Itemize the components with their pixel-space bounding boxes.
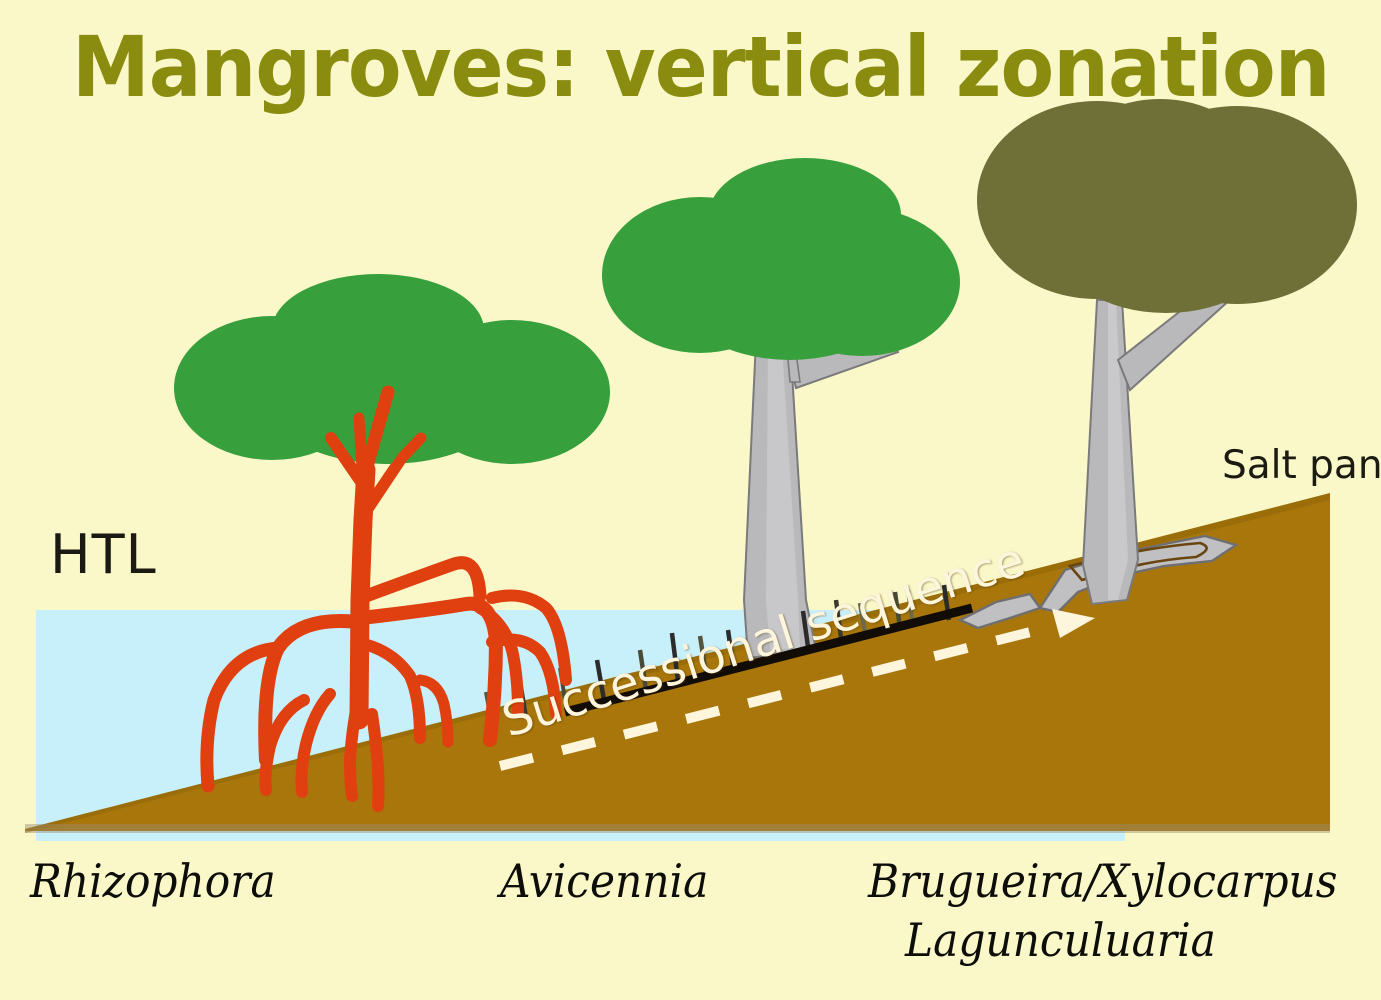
slide-canvas: Mangroves: vertical zonation HTL Salt pa… [0,0,1381,1000]
canopy-lobe-green2-top [709,158,901,272]
branch-tip-c [359,418,364,500]
salt-pan-label: Salt pan? [1222,446,1381,485]
htl-label: HTL [50,528,157,582]
species-label-avicennia: Avicennia [500,858,708,904]
soil-baseline-shadow [25,824,1330,833]
species-label-brugueira-xylocarpus: Brugueira/Xylocarpus [868,858,1338,904]
mangrove-zonation-illustration [0,0,1381,1000]
species-label-lagunculuaria: Lagunculuaria [905,917,1216,963]
prop-root-center [372,714,379,806]
page-title: Mangroves: vertical zonation [72,25,1329,109]
species-label-rhizophora: Rhizophora [30,858,276,904]
canopy-lobe-green1-top [272,274,484,386]
